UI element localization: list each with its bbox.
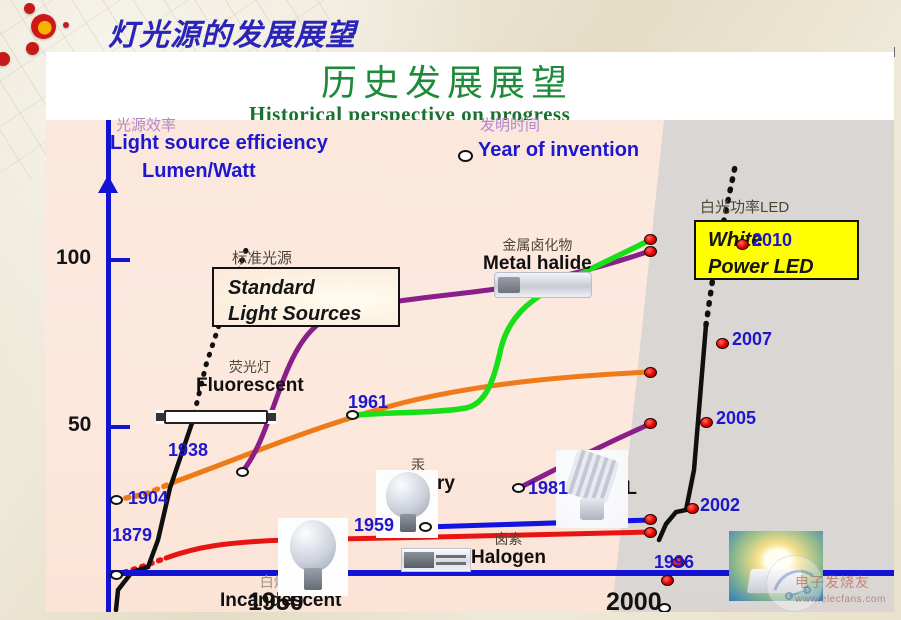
standard-box-line2: Light Sources xyxy=(228,301,398,327)
marker-value-incandescent xyxy=(644,527,657,538)
figure-panel: 历史发展展望 Historical perspective on progres… xyxy=(46,52,894,612)
label-metal-halide-zh: 金属卤化物 xyxy=(483,238,592,253)
incandescent-bulb-icon xyxy=(278,518,348,596)
label-metal-halide: 金属卤化物 Metal halide xyxy=(483,238,592,274)
marker-invention-1996 xyxy=(658,603,671,612)
standard-box-line1: Standard xyxy=(228,275,398,301)
year-label-2007: 2007 xyxy=(732,329,772,350)
marker-led-2010 xyxy=(736,239,749,250)
y-axis-unit: Lumen/Watt xyxy=(142,160,256,183)
page-title: 灯光源的发展展望 xyxy=(108,10,356,54)
led-box-line2: Power LED xyxy=(708,254,857,281)
marker-invention-1904 xyxy=(110,495,123,505)
marker-led-2002 xyxy=(686,503,699,514)
marker-led-1998 xyxy=(661,575,674,586)
open-circle-icon xyxy=(458,150,473,162)
x-tick-label-2000: 2000 xyxy=(606,588,662,612)
marker-led-2005 xyxy=(700,417,713,428)
y-tick-100 xyxy=(108,258,130,262)
led-box-caption-zh: 白光功率LED xyxy=(700,196,789,217)
marker-value-mercury xyxy=(644,367,657,378)
standard-box-caption-zh: 标准光源 xyxy=(232,247,292,268)
y-tick-label-100: 100 xyxy=(56,246,91,270)
label-fluorescent: 荧光灯 Fluorescent xyxy=(196,360,304,396)
marker-value-cfl xyxy=(644,418,657,429)
marker-led-2007 xyxy=(716,338,729,349)
year-label-2010: 2010 xyxy=(752,230,792,251)
marker-invention-1938 xyxy=(236,467,249,477)
watermark-text: 电子发烧友 xyxy=(795,572,870,592)
y-axis-title-en: Light source efficiency xyxy=(110,132,328,155)
label-fluorescent-en: Fluorescent xyxy=(196,375,304,396)
decor-dot-highlight xyxy=(31,14,56,39)
label-halogen: 卤素 Halogen xyxy=(471,532,546,568)
decor-dot xyxy=(63,22,69,28)
decor-dot xyxy=(26,42,39,55)
year-label-1938: 1938 xyxy=(168,440,208,461)
marker-value-halogen xyxy=(644,514,657,525)
label-fluorescent-zh: 荧光灯 xyxy=(196,360,304,375)
year-label-1996: 1996 xyxy=(654,552,694,573)
y-axis-line xyxy=(106,120,111,612)
year-label-1879: 1879 xyxy=(112,525,152,546)
label-metal-halide-en: Metal halide xyxy=(483,253,592,274)
marker-invention-1879 xyxy=(110,570,123,580)
figure-plot-area: 100 50 // 1950 2000 光源效率 Light source ef… xyxy=(46,120,894,612)
legend-title-en: Year of invention xyxy=(478,139,639,162)
marker-invention-1959 xyxy=(419,522,432,532)
year-label-2005: 2005 xyxy=(716,408,756,429)
year-label-1959: 1959 xyxy=(354,515,394,536)
year-label-2002: 2002 xyxy=(700,495,740,516)
decor-dot xyxy=(24,3,35,14)
marker-value-fluorescent xyxy=(644,246,657,257)
marker-value-metal-halide xyxy=(644,234,657,245)
year-label-1904: 1904 xyxy=(128,488,168,509)
label-halogen-en: Halogen xyxy=(471,547,546,568)
figure-title-zh: 历史发展展望 xyxy=(321,54,573,106)
y-tick-label-50: 50 xyxy=(68,413,91,437)
slide-root: 灯光源的发展展望 历史发展展望 Historical perspective o… xyxy=(0,0,901,620)
year-label-1961: 1961 xyxy=(348,392,388,413)
label-halogen-zh: 卤素 xyxy=(471,532,546,547)
halogen-capsule-icon xyxy=(401,548,471,572)
decor-dot xyxy=(0,52,10,66)
legend-title-zh: 发明时间 xyxy=(480,114,540,135)
standard-light-sources-box: Standard Light Sources xyxy=(212,267,400,327)
year-label-1981: 1981 xyxy=(528,478,568,499)
watermark-url: www.elecfans.com xyxy=(795,594,886,605)
marker-invention-1981 xyxy=(512,483,525,493)
fluorescent-tube-icon xyxy=(156,410,276,424)
metal-halide-lamp-icon xyxy=(494,272,592,298)
y-tick-50 xyxy=(108,425,130,429)
